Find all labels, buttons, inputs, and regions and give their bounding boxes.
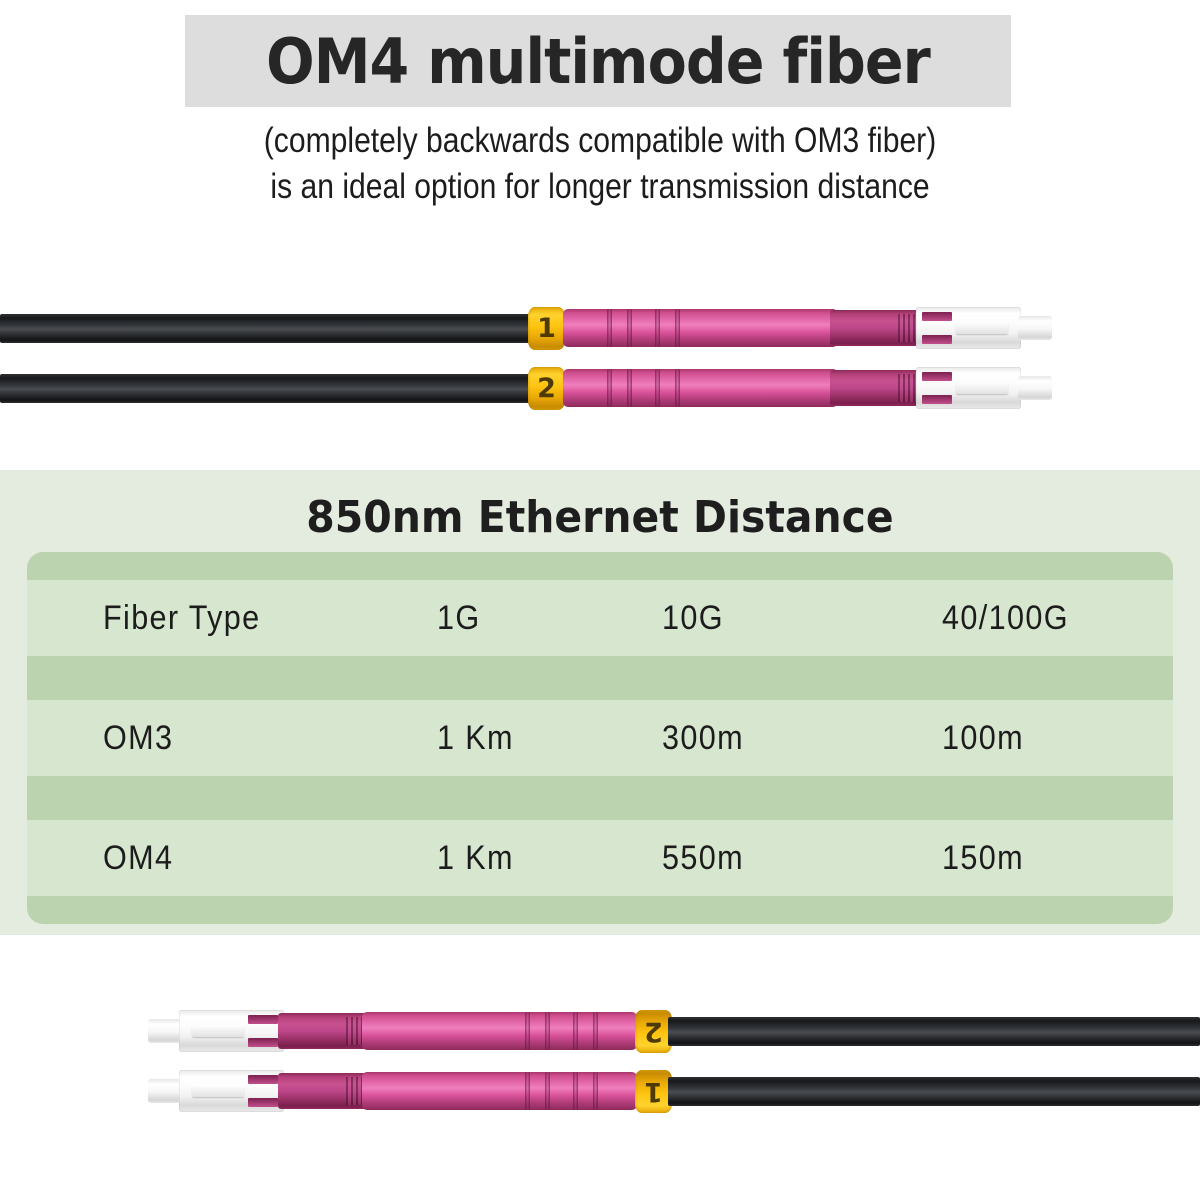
latch-window-icon: [922, 395, 952, 404]
cable-jacket-icon: [668, 1077, 1200, 1106]
cell-om4-10g: 550m: [662, 839, 744, 878]
fiber-marker-ring-1: 1: [528, 307, 565, 350]
fiber-cable-top-image: 1 2: [0, 288, 1200, 413]
subtitle-line-1: (completely backwards compatible with OM…: [84, 118, 1116, 164]
ferrule-tip-icon: [148, 1079, 182, 1103]
latch-window-icon: [248, 1098, 278, 1107]
page-subtitle: (completely backwards compatible with OM…: [84, 118, 1116, 210]
distance-table: Fiber Type 1G 10G 40/100G OM3 1 Km 300m …: [27, 552, 1173, 924]
boot-groove-icon: [607, 309, 612, 347]
title-banner: OM4 multimode fiber: [185, 15, 1011, 107]
cable-jacket-icon: [0, 314, 540, 343]
fiber-marker-ring-1: 1: [635, 1070, 672, 1113]
table-header-row: Fiber Type 1G 10G 40/100G: [27, 580, 1173, 656]
fiber-cable-bottom-image: 2 1: [0, 995, 1200, 1130]
subtitle-line-2: is an ideal option for longer transmissi…: [84, 164, 1116, 210]
boot-groove-icon: [675, 369, 680, 407]
connector-body-icon: [830, 310, 922, 346]
table-row: OM3 1 Km 300m 100m: [27, 700, 1173, 776]
boot-groove-icon: [525, 1012, 530, 1050]
column-header-fiber-type: Fiber Type: [103, 599, 261, 638]
boot-groove-icon: [573, 1072, 578, 1110]
fiber-strand-1: 1: [0, 305, 1070, 351]
fiber-strand-1: 2: [130, 1008, 1200, 1054]
ferrule-tip-icon: [1018, 316, 1052, 340]
lc-latch-icon: [956, 322, 1008, 334]
cell-om4-1g: 1 Km: [437, 839, 514, 878]
boot-groove-icon: [607, 369, 612, 407]
boot-groove-icon: [655, 309, 660, 347]
latch-window-icon: [248, 1038, 278, 1047]
latch-window-icon: [922, 335, 952, 344]
latch-window-icon: [922, 372, 952, 381]
lc-connector-housing-icon: [916, 307, 1021, 349]
cell-om4-40-100g: 150m: [942, 839, 1024, 878]
latch-window-icon: [922, 312, 952, 321]
column-header-40-100g: 40/100G: [942, 599, 1069, 638]
boot-groove-icon: [525, 1072, 530, 1110]
fiber-marker-ring-2: 2: [528, 367, 565, 410]
column-header-1g: 1G: [437, 599, 481, 638]
boot-groove-icon: [593, 1072, 598, 1110]
ferrule-tip-icon: [148, 1019, 182, 1043]
boot-groove-icon: [545, 1012, 550, 1050]
cell-om4-type: OM4: [103, 839, 173, 878]
boot-groove-icon: [655, 369, 660, 407]
lc-connector-housing-icon: [916, 367, 1021, 409]
cell-om3-1g: 1 Km: [437, 719, 514, 758]
lc-connector-housing-icon: [179, 1010, 284, 1052]
connector-body-icon: [278, 1073, 370, 1109]
ferrule-tip-icon: [1018, 376, 1052, 400]
table-row: OM4 1 Km 550m 150m: [27, 820, 1173, 896]
fiber-strand-2: 1: [130, 1068, 1200, 1114]
connector-boot-icon: [563, 369, 838, 407]
section-heading: 850nm Ethernet Distance: [42, 492, 1158, 543]
cable-jacket-icon: [0, 374, 540, 403]
latch-window-icon: [248, 1015, 278, 1024]
fiber-marker-ring-2: 2: [635, 1010, 672, 1053]
ethernet-distance-section: 850nm Ethernet Distance Fiber Type 1G 10…: [0, 470, 1200, 935]
page-title: OM4 multimode fiber: [218, 15, 978, 107]
cable-jacket-icon: [668, 1017, 1200, 1046]
fiber-strand-2: 2: [0, 365, 1070, 411]
connector-body-icon: [830, 370, 922, 406]
connector-boot-icon: [563, 309, 838, 347]
lc-latch-icon: [956, 382, 1008, 394]
lc-latch-icon: [192, 1085, 244, 1097]
boot-groove-icon: [627, 309, 632, 347]
latch-window-icon: [248, 1075, 278, 1084]
lc-connector-housing-icon: [179, 1070, 284, 1112]
boot-groove-icon: [573, 1012, 578, 1050]
boot-groove-icon: [593, 1012, 598, 1050]
cell-om3-40-100g: 100m: [942, 719, 1024, 758]
lc-latch-icon: [192, 1025, 244, 1037]
boot-groove-icon: [545, 1072, 550, 1110]
boot-groove-icon: [675, 309, 680, 347]
connector-body-icon: [278, 1013, 370, 1049]
column-header-10g: 10G: [662, 599, 724, 638]
cell-om3-10g: 300m: [662, 719, 744, 758]
cell-om3-type: OM3: [103, 719, 173, 758]
boot-groove-icon: [627, 369, 632, 407]
